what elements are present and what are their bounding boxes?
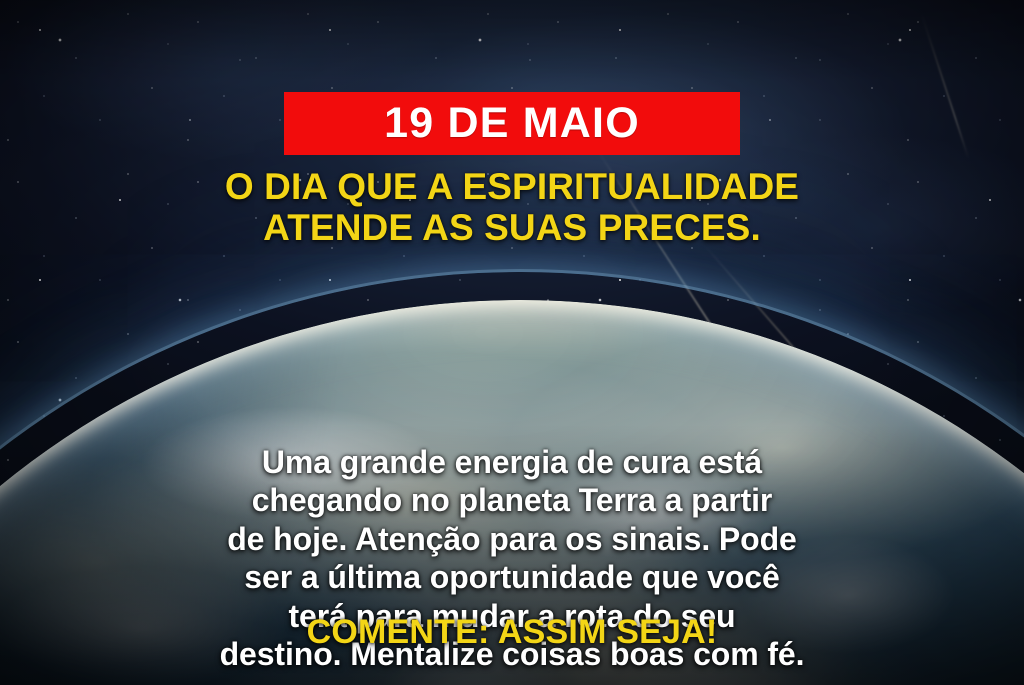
- headline: O DIA QUE A ESPIRITUALIDADE ATENDE AS SU…: [0, 166, 1024, 249]
- body-line-3: de hoje. Atenção para os sinais. Pode: [62, 520, 962, 558]
- date-banner-label: 19 DE MAIO: [384, 102, 640, 145]
- body-line-1: Uma grande energia de cura está: [62, 443, 962, 481]
- poster-content: 19 DE MAIO O DIA QUE A ESPIRITUALIDADE A…: [0, 0, 1024, 685]
- date-banner: 19 DE MAIO: [284, 92, 740, 155]
- call-to-action: COMENTE: ASSIM SEJA!: [0, 613, 1024, 652]
- call-to-action-label: COMENTE: ASSIM SEJA!: [307, 613, 718, 651]
- spiritual-message-poster: 19 DE MAIO O DIA QUE A ESPIRITUALIDADE A…: [0, 0, 1024, 685]
- body-line-4: ser a última oportunidade que você: [62, 558, 962, 596]
- headline-line-2: ATENDE AS SUAS PRECES.: [0, 207, 1024, 248]
- headline-line-1: O DIA QUE A ESPIRITUALIDADE: [0, 166, 1024, 207]
- body-line-2: chegando no planeta Terra a partir: [62, 481, 962, 519]
